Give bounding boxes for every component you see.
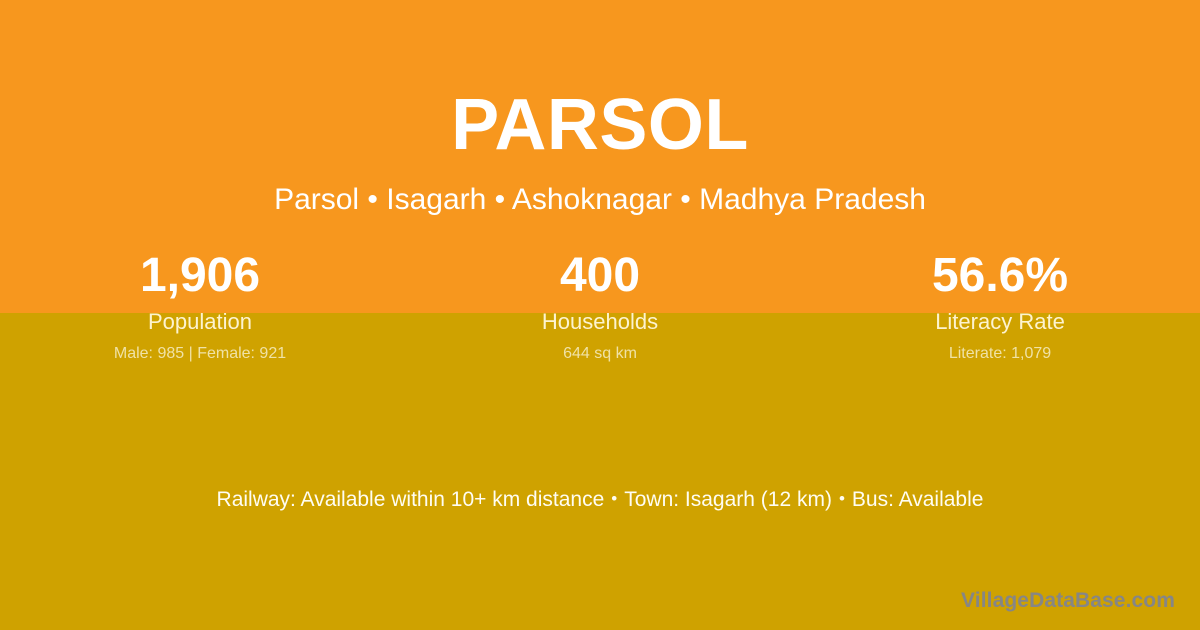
facility-summary: Railway: Available within 10+ km distanc… [0,484,1200,517]
stat-population: 1,906 Population Male: 985 | Female: 921 [0,246,400,365]
stat-value: 56.6% [800,246,1200,306]
fact-bus: Bus: Available [852,488,984,511]
stat-households: 400 Households 644 sq km [400,246,800,365]
stat-sublabel: Male: 985 | Female: 921 [0,343,400,365]
fact-separator-icon: • [832,489,852,508]
fact-town: Town: Isagarh (12 km) [624,488,832,511]
stat-value: 400 [400,246,800,306]
stat-label: Literacy Rate [800,307,1200,337]
fact-separator-icon: • [604,489,624,508]
stat-label: Population [0,307,400,337]
page-title: PARSOL [0,82,1200,168]
stat-value: 1,906 [0,246,400,306]
stat-sublabel: Literate: 1,079 [800,343,1200,365]
village-info-card: PARSOL Parsol • Isagarh • Ashoknagar • M… [0,0,1200,630]
stat-sublabel: 644 sq km [400,343,800,365]
fact-railway: Railway: Available within 10+ km distanc… [217,488,605,511]
site-watermark: VillageDataBase.com [961,588,1175,614]
stat-label: Households [400,307,800,337]
stat-literacy-rate: 56.6% Literacy Rate Literate: 1,079 [800,246,1200,365]
card-content: PARSOL Parsol • Isagarh • Ashoknagar • M… [0,0,1200,630]
breadcrumb: Parsol • Isagarh • Ashoknagar • Madhya P… [0,181,1200,219]
stats-row: 1,906 Population Male: 985 | Female: 921… [0,246,1200,365]
